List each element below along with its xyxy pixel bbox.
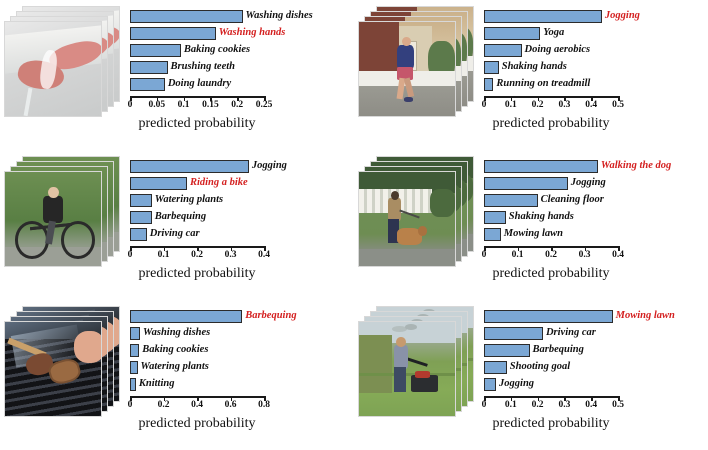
x-axis — [484, 396, 618, 398]
x-axis-tick-label: 0.5 — [612, 100, 624, 110]
bar — [484, 344, 530, 357]
bar-label: Doing laundry — [168, 77, 231, 91]
plot-area: BarbequingWashing dishesBaking cookiesWa… — [130, 310, 264, 396]
bar-label: Barbequing — [533, 343, 584, 357]
bar — [130, 310, 242, 323]
x-axis-tick-label: 0.4 — [191, 400, 203, 410]
bar — [130, 327, 140, 340]
bar-label: Mowing lawn — [504, 227, 563, 241]
plot-area: Mowing lawnDriving carBarbequingShooting… — [484, 310, 618, 396]
video-frame — [4, 171, 102, 267]
bar-label: Cleaning floor — [541, 193, 604, 207]
plot-area: Walking the dogJoggingCleaning floorShak… — [484, 160, 618, 246]
x-axis-tick-label: 0 — [128, 100, 133, 110]
bar-row: Washing dishes — [130, 10, 264, 23]
panel-washing-hands: Washing dishesWashing handsBaking cookie… — [0, 0, 354, 150]
x-axis-tick-label: 0 — [482, 250, 487, 260]
bar-row: Shooting goal — [484, 361, 618, 374]
video-frame — [358, 321, 456, 417]
x-axis-tick-label: 0.3 — [558, 100, 570, 110]
x-axis-tick-label: 0.4 — [258, 250, 270, 260]
bar-row: Yoga — [484, 27, 618, 40]
x-axis-tick-label: 0.15 — [202, 100, 219, 110]
bar-row: Riding a bike — [130, 177, 264, 190]
x-axis-caption: predicted probability — [130, 116, 264, 132]
bar-row: Baking cookies — [130, 44, 264, 57]
bar — [130, 177, 187, 190]
bar — [130, 160, 249, 173]
x-axis-tick-label: 0 — [482, 400, 487, 410]
bar — [130, 361, 138, 374]
x-axis-tick-label: 0.3 — [225, 250, 237, 260]
bar-label: Shaking hands — [509, 210, 574, 224]
x-axis-tick-label: 0.4 — [612, 250, 624, 260]
bar-row: Shaking hands — [484, 211, 618, 224]
x-axis-tick-label: 0.2 — [545, 250, 557, 260]
bar — [484, 211, 506, 224]
x-axis-caption: predicted probability — [130, 266, 264, 282]
bar-row: Barbequing — [130, 310, 264, 323]
video-frame — [4, 21, 102, 117]
bar — [130, 228, 147, 241]
bar — [130, 10, 243, 23]
x-axis-tick-label: 0.2 — [158, 400, 170, 410]
x-axis-tick-label: 0.2 — [231, 100, 243, 110]
bar-row: Jogging — [484, 378, 618, 391]
plot-area: Washing dishesWashing handsBaking cookie… — [130, 10, 264, 96]
x-axis-tick-label: 0.3 — [579, 250, 591, 260]
bar-label: Brushing teeth — [171, 60, 235, 74]
panel-jogging: JoggingYogaDoing aerobicsShaking handsRu… — [354, 0, 708, 150]
bar-row: Brushing teeth — [130, 61, 264, 74]
bar — [484, 78, 493, 91]
x-axis-tick-label: 0.8 — [258, 400, 270, 410]
bar — [130, 378, 136, 391]
bar-chart-barbequing: BarbequingWashing dishesBaking cookiesWa… — [126, 300, 354, 450]
bar — [484, 10, 602, 23]
bar-label: Barbequing — [155, 210, 206, 224]
video-thumbnail-barbequing — [4, 306, 126, 424]
bar-row: Baking cookies — [130, 344, 264, 357]
panel-walking-the-dog: Walking the dogJoggingCleaning floorShak… — [354, 150, 708, 300]
bar-label: Jogging — [571, 176, 606, 190]
bar-label-highlighted: Jogging — [605, 9, 640, 23]
bar-row: Barbequing — [130, 211, 264, 224]
bar-chart-riding-a-bike: JoggingRiding a bikeWatering plantsBarbe… — [126, 150, 354, 300]
bar-label: Washing dishes — [143, 326, 210, 340]
bar-label: Shaking hands — [502, 60, 567, 74]
x-axis-caption: predicted probability — [484, 266, 618, 282]
bar-row: Mowing lawn — [484, 228, 618, 241]
x-axis-caption: predicted probability — [484, 416, 618, 432]
bar — [484, 310, 613, 323]
bar — [130, 211, 152, 224]
bar-chart-jogging: JoggingYogaDoing aerobicsShaking handsRu… — [480, 0, 708, 150]
bar-row: Jogging — [484, 10, 618, 23]
bar-row: Driving car — [484, 327, 618, 340]
bar-label: Watering plants — [155, 193, 223, 207]
x-axis-caption: predicted probability — [130, 416, 264, 432]
bar-chart-walking-the-dog: Walking the dogJoggingCleaning floorShak… — [480, 150, 708, 300]
x-axis-tick-label: 0 — [482, 100, 487, 110]
video-thumbnail-riding-a-bike — [4, 156, 126, 274]
bar-row: Walking the dog — [484, 160, 618, 173]
x-axis-tick-label: 0.3 — [558, 400, 570, 410]
x-axis-tick-label: 0 — [128, 400, 133, 410]
figure-grid: Washing dishesWashing handsBaking cookie… — [0, 0, 708, 450]
x-axis-tick-label: 0.4 — [585, 400, 597, 410]
x-axis-tick-label: 0.1 — [505, 400, 517, 410]
x-axis-tick-label: 0.25 — [256, 100, 273, 110]
bar — [130, 344, 139, 357]
video-thumbnail-mowing-lawn — [358, 306, 480, 424]
bar — [130, 27, 216, 40]
bar-label: Doing aerobics — [525, 43, 591, 57]
bar-label: Driving car — [150, 227, 200, 241]
x-axis-tick-label: 0.2 — [191, 250, 203, 260]
bar-row: Jogging — [484, 177, 618, 190]
bar-row: Doing aerobics — [484, 44, 618, 57]
video-thumbnail-jogging — [358, 6, 480, 124]
bar-label: Jogging — [499, 377, 534, 391]
x-axis-tick-label: 0.1 — [512, 250, 524, 260]
bar-label: Baking cookies — [184, 43, 250, 57]
video-frame — [358, 21, 456, 117]
x-axis — [130, 96, 264, 98]
panel-mowing-lawn: Mowing lawnDriving carBarbequingShooting… — [354, 300, 708, 450]
video-frame — [358, 171, 456, 267]
x-axis-caption: predicted probability — [484, 116, 618, 132]
bar — [484, 378, 496, 391]
bar-label-highlighted: Washing hands — [219, 26, 286, 40]
x-axis-tick-label: 0 — [128, 250, 133, 260]
video-thumbnail-washing-hands — [4, 6, 126, 124]
x-axis-tick-label: 0.1 — [158, 250, 170, 260]
panel-riding-a-bike: JoggingRiding a bikeWatering plantsBarbe… — [0, 150, 354, 300]
bar-row: Jogging — [130, 160, 264, 173]
bar — [484, 361, 507, 374]
bar-label: Washing dishes — [246, 9, 313, 23]
x-axis-tick-label: 0.1 — [505, 100, 517, 110]
bar — [484, 327, 543, 340]
bar-row: Washing dishes — [130, 327, 264, 340]
bar-row: Watering plants — [130, 361, 264, 374]
bar — [484, 228, 501, 241]
bar — [484, 61, 499, 74]
bar-label-highlighted: Barbequing — [245, 309, 296, 323]
bar-chart-mowing-lawn: Mowing lawnDriving carBarbequingShooting… — [480, 300, 708, 450]
x-axis-tick-label: 0.1 — [178, 100, 190, 110]
bar-label: Driving car — [546, 326, 596, 340]
bar-row: Washing hands — [130, 27, 264, 40]
video-frame — [4, 321, 102, 417]
bar-label: Watering plants — [141, 360, 209, 374]
bar — [130, 194, 152, 207]
bar — [484, 44, 522, 57]
bar-row: Doing laundry — [130, 78, 264, 91]
bar — [484, 160, 598, 173]
x-axis-tick-label: 0.6 — [225, 400, 237, 410]
x-axis-tick-label: 0.5 — [612, 400, 624, 410]
bar-label: Running on treadmill — [496, 77, 590, 91]
bar-label: Baking cookies — [142, 343, 208, 357]
bar — [484, 177, 568, 190]
x-axis — [484, 96, 618, 98]
bar-row: Barbequing — [484, 344, 618, 357]
bar-row: Watering plants — [130, 194, 264, 207]
bar-label: Shooting goal — [510, 360, 570, 374]
panel-barbequing: BarbequingWashing dishesBaking cookiesWa… — [0, 300, 354, 450]
bar-label: Knitting — [139, 377, 175, 391]
bar-row: Knitting — [130, 378, 264, 391]
bar-label-highlighted: Mowing lawn — [616, 309, 675, 323]
bar-row: Shaking hands — [484, 61, 618, 74]
bar — [130, 78, 165, 91]
x-axis-tick-label: 0.2 — [532, 400, 544, 410]
x-axis-tick-label: 0.4 — [585, 100, 597, 110]
x-axis-tick-label: 0.2 — [532, 100, 544, 110]
bar-row: Running on treadmill — [484, 78, 618, 91]
bar-row: Mowing lawn — [484, 310, 618, 323]
plot-area: JoggingYogaDoing aerobicsShaking handsRu… — [484, 10, 618, 96]
bar-row: Driving car — [130, 228, 264, 241]
video-thumbnail-walking-the-dog — [358, 156, 480, 274]
bar — [130, 44, 181, 57]
bar — [130, 61, 168, 74]
bar — [484, 194, 538, 207]
bar-row: Cleaning floor — [484, 194, 618, 207]
bar-label-highlighted: Riding a bike — [190, 176, 248, 190]
x-axis-tick-label: 0.05 — [148, 100, 165, 110]
bar — [484, 27, 540, 40]
bar-chart-washing-hands: Washing dishesWashing handsBaking cookie… — [126, 0, 354, 150]
bar-label: Jogging — [252, 159, 287, 173]
bar-label: Yoga — [543, 26, 564, 40]
bar-label-highlighted: Walking the dog — [601, 159, 671, 173]
plot-area: JoggingRiding a bikeWatering plantsBarbe… — [130, 160, 264, 246]
